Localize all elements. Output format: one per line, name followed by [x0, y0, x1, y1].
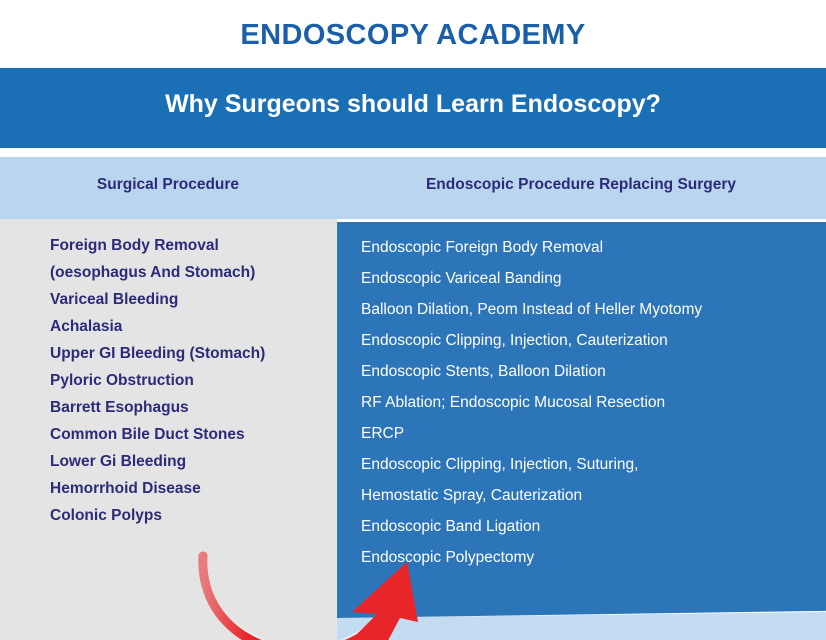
brand-bar: ENDOSCOPY ACADEMY [0, 0, 826, 70]
list-item: Foreign Body Removal [50, 232, 340, 259]
list-item: ERCP [361, 418, 821, 449]
list-item: Hemorrhoid Disease [50, 475, 340, 502]
list-item: RF Ablation; Endoscopic Mucosal Resectio… [361, 387, 821, 418]
list-item: Barrett Esophagus [50, 394, 340, 421]
headline-band: Why Surgeons should Learn Endoscopy? [0, 68, 826, 148]
headline-text: Why Surgeons should Learn Endoscopy? [0, 90, 826, 119]
list-item: Upper GI Bleeding (Stomach) [50, 340, 340, 367]
list-item: Endoscopic Foreign Body Removal [361, 232, 821, 263]
list-item: Colonic Polyps [50, 502, 340, 529]
list-item: Lower Gi Bleeding [50, 448, 340, 475]
list-item: Endoscopic Clipping, Injection, Cauteriz… [361, 325, 821, 356]
list-item: Balloon Dilation, Peom Instead of Heller… [361, 294, 821, 325]
list-item: Endoscopic Stents, Balloon Dilation [361, 356, 821, 387]
list-item: (oesophagus And Stomach) [50, 259, 340, 286]
list-item: Endoscopic Polypectomy [361, 542, 821, 573]
list-item: Variceal Bleeding [50, 286, 340, 313]
list-item: Achalasia [50, 313, 340, 340]
column-header-band: Surgical Procedure Endoscopic Procedure … [0, 157, 826, 219]
endoscopic-procedure-panel: Endoscopic Foreign Body Removal Endoscop… [337, 222, 826, 618]
list-item: Endoscopic Clipping, Injection, Suturing… [361, 449, 821, 480]
list-item: Common Bile Duct Stones [50, 421, 340, 448]
surgical-procedure-panel: Foreign Body Removal (oesophagus And Sto… [0, 219, 337, 640]
column-header-surgical-procedure: Surgical Procedure [0, 176, 336, 194]
list-item: Pyloric Obstruction [50, 367, 340, 394]
surgical-procedure-list: Foreign Body Removal (oesophagus And Sto… [50, 232, 340, 529]
list-item: Hemostatic Spray, Cauterization [361, 480, 821, 511]
list-item: Endoscopic Variceal Banding [361, 263, 821, 294]
poster-root: ENDOSCOPY ACADEMY Why Surgeons should Le… [0, 0, 826, 640]
list-item: Endoscopic Band Ligation [361, 511, 821, 542]
endoscopic-procedure-list: Endoscopic Foreign Body Removal Endoscop… [361, 232, 821, 573]
page-title: ENDOSCOPY ACADEMY [0, 19, 826, 52]
column-header-endoscopic-procedure: Endoscopic Procedure Replacing Surgery [336, 176, 826, 194]
